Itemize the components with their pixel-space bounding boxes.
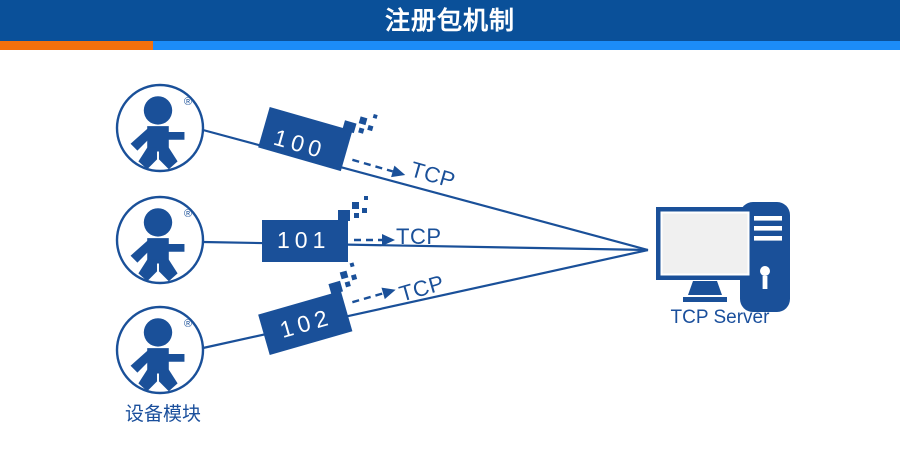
tcp-protocol-label-2: TCP: [396, 224, 442, 250]
accent-blue-segment: [153, 41, 900, 50]
device-module-3[interactable]: ®: [117, 307, 203, 393]
device-module-2[interactable]: ®: [117, 197, 203, 283]
signal-pixels-icon: [352, 196, 368, 218]
diagram-svg: ® ® ®: [0, 50, 900, 456]
device-module-1[interactable]: ®: [117, 85, 203, 171]
server-monitor-screen: [662, 213, 749, 275]
registered-mark-icon: ®: [184, 318, 192, 330]
device-module-icon: [131, 318, 185, 391]
packet-label-2: 101: [277, 227, 330, 254]
accent-strip: [0, 41, 900, 50]
server-monitor-base: [683, 297, 727, 302]
server-monitor-neck: [688, 281, 722, 295]
registered-mark-icon: ®: [184, 96, 192, 108]
packet-notch: [338, 210, 350, 221]
tcp-server-label: TCP Server: [630, 307, 810, 329]
accent-orange-segment: [0, 41, 153, 50]
registered-mark-icon: ®: [184, 208, 192, 220]
page-title: 注册包机制: [0, 0, 900, 41]
device-module-icon: [131, 208, 185, 281]
diagram-canvas: ® ® ®: [0, 50, 900, 456]
signal-pixels-icon: [338, 262, 359, 288]
device-group-label: 设备模块: [78, 399, 248, 426]
header-bar: 注册包机制: [0, 0, 900, 41]
signal-pixels-icon: [356, 111, 377, 137]
tcp-arrow-3: [351, 284, 398, 308]
tcp-server-icon[interactable]: [656, 202, 790, 312]
device-module-icon: [131, 96, 185, 169]
diagram-page: 注册包机制: [0, 0, 900, 456]
